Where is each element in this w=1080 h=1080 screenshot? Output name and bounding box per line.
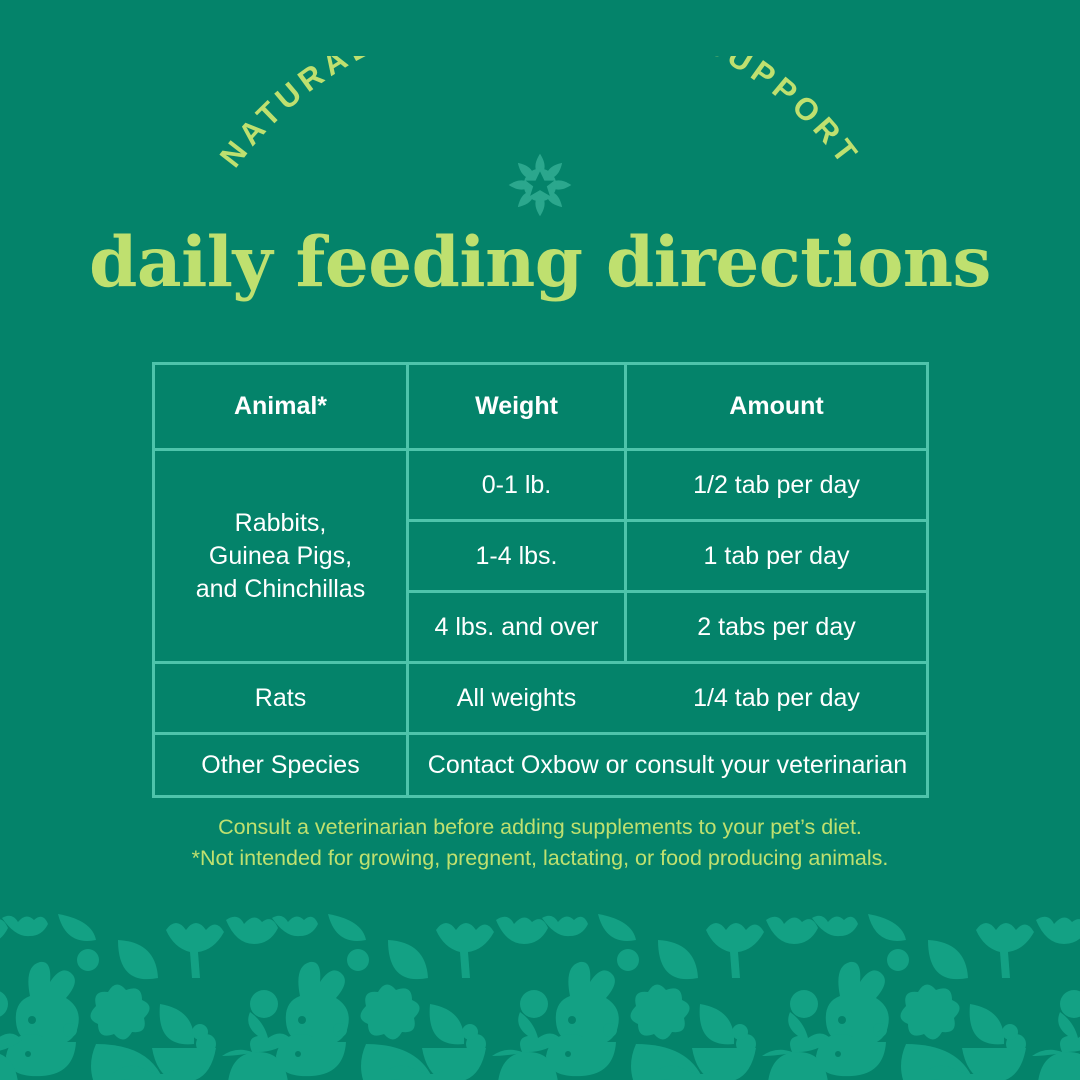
table-cell-weight-3: 4 lbs. and over <box>409 593 624 661</box>
table-cell-animal-rats: Rats <box>155 664 406 732</box>
pattern-band-svg <box>0 908 1080 1080</box>
table-cell-animal-other: Other Species <box>155 735 406 795</box>
botanical-animal-pattern-band <box>0 908 1080 1080</box>
table-header-weight: Weight <box>409 365 624 448</box>
footnote-line-1: Consult a veterinarian before adding sup… <box>0 812 1080 843</box>
table-cell-amount-3: 2 tabs per day <box>627 593 926 661</box>
feeding-directions-table: Animal* Weight Amount Rabbits, Guinea Pi… <box>152 362 929 798</box>
table-cell-amount-2: 1 tab per day <box>627 522 926 590</box>
page-title: daily feeding directions <box>0 228 1080 297</box>
table-cell-amount-4: 1/4 tab per day <box>627 664 926 732</box>
table-header-animal: Animal* <box>155 365 406 448</box>
feeding-directions-graphic: NATURAL SCIENCE JOINT SUPPORT daily feed… <box>0 0 1080 1080</box>
rosette-flower-icon <box>506 151 574 219</box>
animal-group-line-3: and Chinchillas <box>196 573 366 606</box>
table-cell-weight-2: 1-4 lbs. <box>409 522 624 590</box>
animal-group-line-1: Rabbits, <box>235 507 327 540</box>
footnote: Consult a veterinarian before adding sup… <box>0 812 1080 873</box>
footnote-line-2: *Not intended for growing, pregnent, lac… <box>0 843 1080 874</box>
table-cell-other-species-note: Contact Oxbow or consult your veterinari… <box>409 735 926 795</box>
table-cell-animal-group: Rabbits, Guinea Pigs, and Chinchillas <box>155 451 406 661</box>
table-cell-weight-4: All weights <box>409 664 624 732</box>
pattern-tiles <box>0 914 1080 1080</box>
table-cell-amount-1: 1/2 tab per day <box>627 451 926 519</box>
table-cell-weight-1: 0-1 lb. <box>409 451 624 519</box>
table-header-amount: Amount <box>627 365 926 448</box>
animal-group-line-2: Guinea Pigs, <box>209 540 352 573</box>
